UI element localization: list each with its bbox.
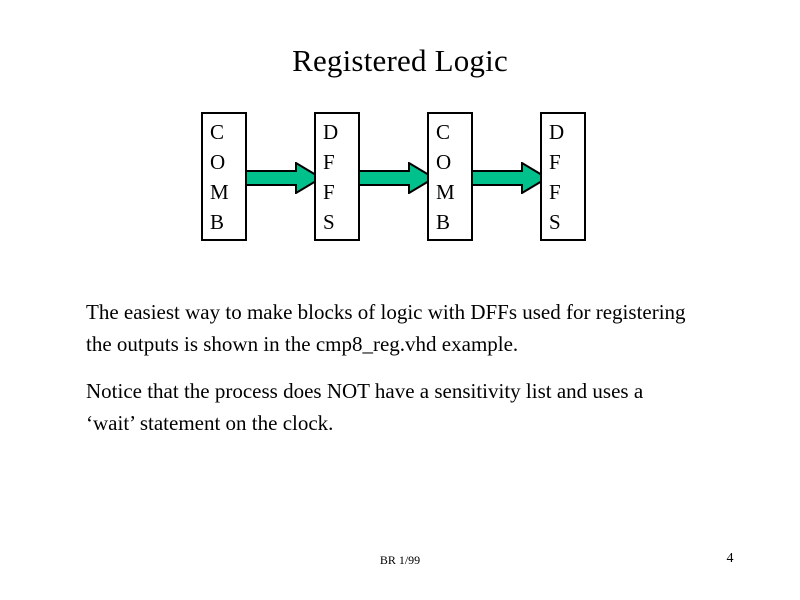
registered-logic-diagram: C O M B D F F S C O M B D F F S (195, 110, 615, 246)
diagram-block-label: D F F S (549, 117, 564, 237)
diagram-block-comb-2: C O M B (427, 112, 473, 241)
arrow-right-icon (357, 162, 435, 194)
body-paragraph-1: The easiest way to make blocks of logic … (86, 296, 686, 360)
footer-credit: BR 1/99 (0, 552, 800, 568)
footer-page-number: 4 (700, 550, 760, 568)
arrow-right-icon (470, 162, 548, 194)
body-paragraph-2: Notice that the process does NOT have a … (86, 375, 686, 439)
diagram-block-comb-1: C O M B (201, 112, 247, 241)
diagram-block-label: D F F S (323, 117, 338, 237)
arrow-right-icon (244, 162, 322, 194)
slide: Registered Logic C O M B D F F S C O M B (0, 0, 800, 600)
diagram-block-dffs-2: D F F S (540, 112, 586, 241)
diagram-block-dffs-1: D F F S (314, 112, 360, 241)
slide-body: The easiest way to make blocks of logic … (86, 296, 686, 439)
diagram-block-label: C O M B (436, 117, 455, 237)
diagram-block-label: C O M B (210, 117, 229, 237)
page-title: Registered Logic (0, 42, 800, 80)
